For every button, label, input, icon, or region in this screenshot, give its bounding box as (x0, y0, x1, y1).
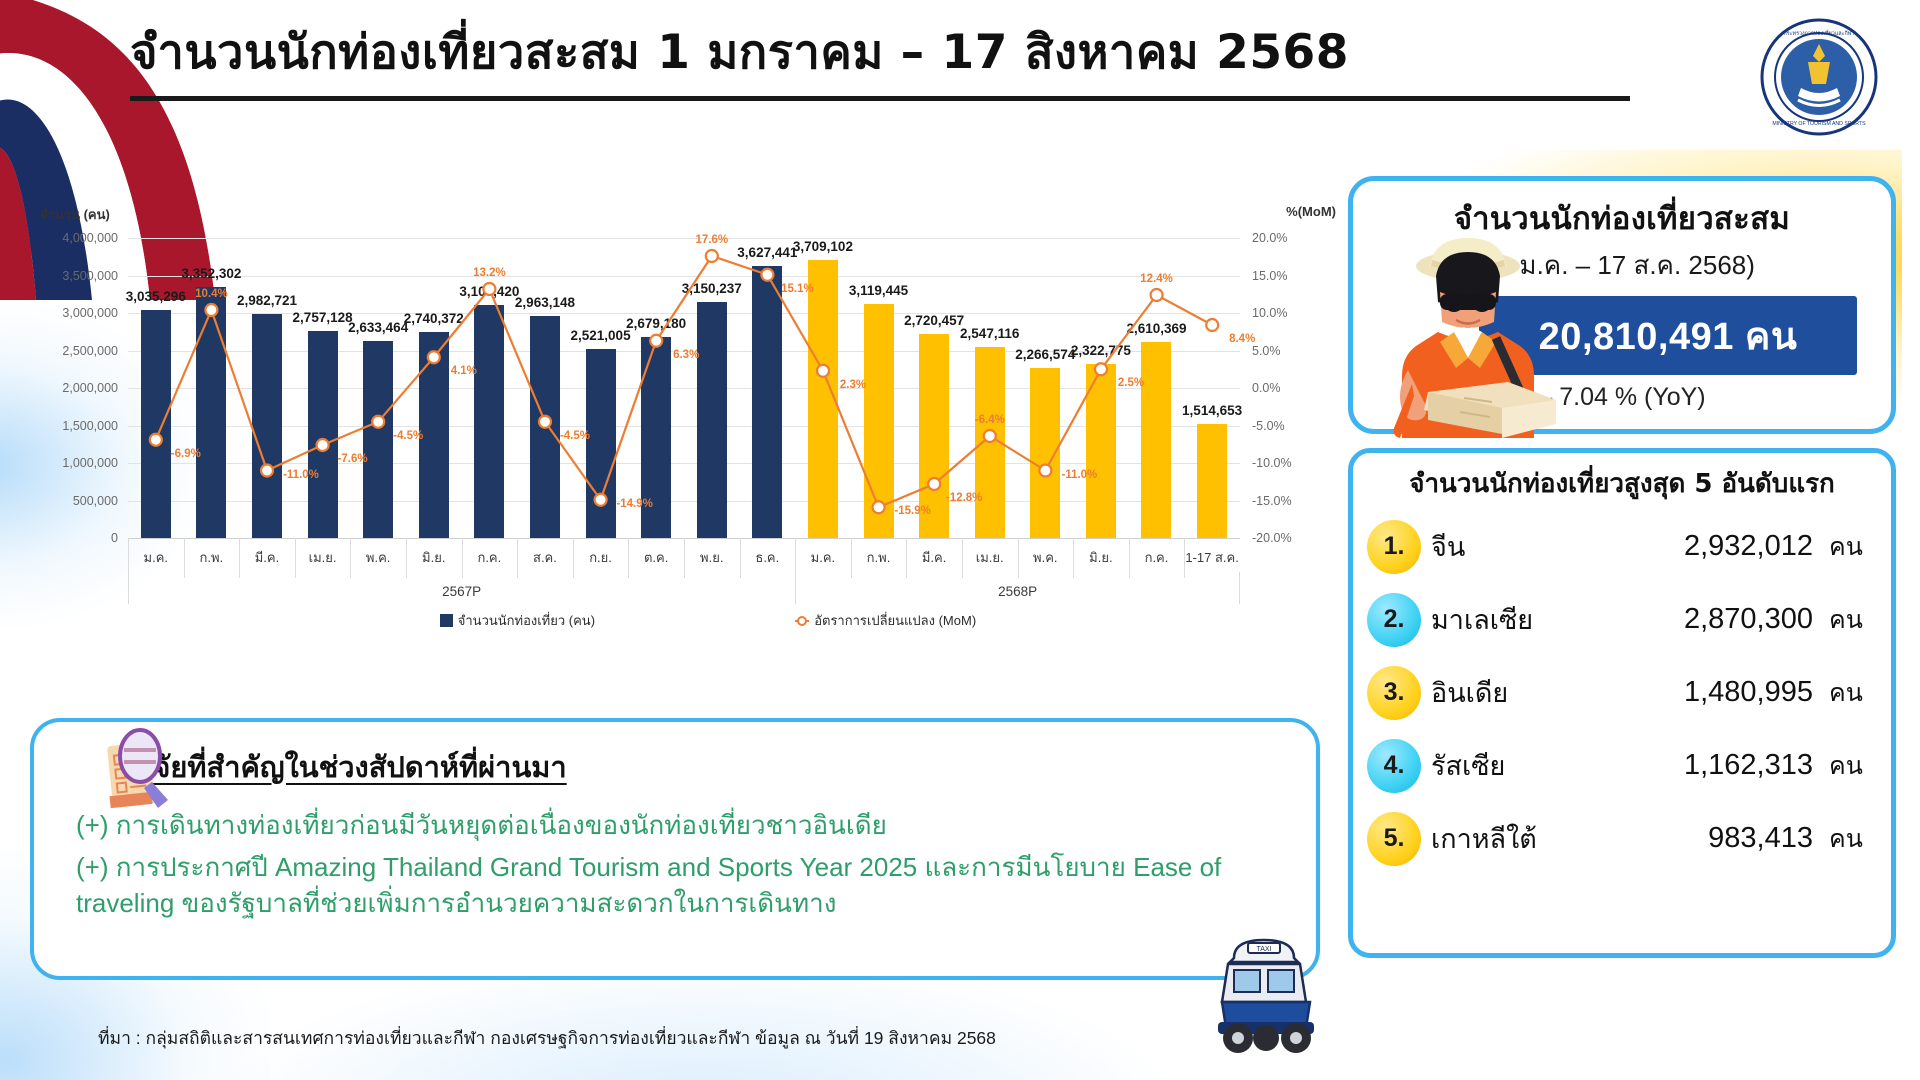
x-axis-label: 1-17 ส.ค. (1184, 538, 1240, 576)
page-title: จำนวนนักท่องเที่ยวสะสม 1 มกราคม – 17 สิง… (130, 26, 1690, 80)
bar-slot: 2,633,464 (350, 238, 406, 538)
x-axis-label: มิ.ย. (1073, 538, 1129, 576)
legend-item: จำนวนนักท่องเที่ยว (คน) (440, 610, 595, 631)
mom-percent-label: -4.5% (393, 430, 423, 442)
chart-bar (474, 305, 504, 538)
bar-slot: 2,679,180 (628, 238, 684, 538)
bar-slot: 3,150,237 (684, 238, 740, 538)
y-tick-label-right: -20.0% (1252, 531, 1292, 545)
bar-value-label: 1,514,653 (1182, 403, 1242, 418)
bar-slot: 3,103,420 (462, 238, 518, 538)
bar-slot: 3,352,302 (184, 238, 240, 538)
legend-label: จำนวนนักท่องเที่ยว (คน) (458, 610, 595, 631)
mom-percent-label: 15.1% (781, 283, 814, 295)
magnifier-checklist-icon (96, 724, 188, 816)
mom-percent-label: 2.3% (840, 379, 866, 391)
mom-percent-label: -4.5% (560, 430, 590, 442)
mom-percent-label: -15.9% (894, 505, 930, 517)
bar-value-label: 2,633,464 (348, 320, 408, 335)
tuktuk-illustration: TAXI (1200, 918, 1330, 1058)
svg-text:TAXI: TAXI (1256, 946, 1271, 953)
y-tick-label-left: 2,000,000 (62, 381, 118, 395)
mom-percent-label: -11.0% (1061, 469, 1097, 481)
chart-bar (1197, 424, 1227, 538)
rank-country-name: รัสเซีย (1431, 744, 1581, 787)
bar-value-label: 2,740,372 (404, 311, 464, 326)
mom-percent-label: -7.6% (338, 453, 368, 465)
y-tick-label-left: 2,500,000 (62, 344, 118, 358)
bar-slot: 2,521,005 (573, 238, 629, 538)
x-axis-label: ก.ค. (1129, 538, 1185, 576)
y-tick-label-left: 1,500,000 (62, 419, 118, 433)
key-factors-box: ปัจจัยที่สำคัญในช่วงสัปดาห์ที่ผ่านมา (+)… (30, 718, 1320, 980)
legend-label: อัตราการเปลี่ยนแปลง (MoM) (814, 610, 976, 631)
x-axis-group-label: 2568P (795, 576, 1240, 606)
svg-text:กระทรวงการท่องเที่ยวและกีฬา: กระทรวงการท่องเที่ยวและกีฬา (1783, 29, 1854, 37)
x-axis-label: พ.ย. (684, 538, 740, 576)
bar-value-label: 3,150,237 (682, 281, 742, 296)
factors-header: ปัจจัยที่สำคัญในช่วงสัปดาห์ที่ผ่านมา (34, 722, 1316, 790)
y-tick-label-right: -5.0% (1252, 419, 1285, 433)
y-tick-label-left: 500,000 (73, 494, 118, 508)
rank-value: 2,870,300 (1581, 603, 1829, 636)
chart-bar (697, 302, 727, 538)
top5-row: 3.อินเดีย1,480,995คน (1367, 656, 1877, 729)
chart-bar (363, 341, 393, 539)
mom-percent-label: 12.4% (1140, 273, 1173, 285)
chart-bars: 3,035,2963,352,3022,982,7212,757,1282,63… (128, 238, 1240, 538)
x-axis-label: ต.ค. (628, 538, 684, 576)
chart-bar (530, 316, 560, 538)
bar-value-label: 2,757,128 (293, 310, 353, 325)
rank-unit: คน (1829, 819, 1877, 859)
page-header: จำนวนนักท่องเที่ยวสะสม 1 มกราคม – 17 สิง… (130, 26, 1690, 101)
x-axis-label: ม.ค. (795, 538, 851, 576)
bar-value-label: 3,709,102 (793, 239, 853, 254)
mom-percent-label: 8.4% (1229, 333, 1255, 345)
chart-bar (252, 314, 282, 538)
x-axis-label: มี.ค. (906, 538, 962, 576)
rank-unit: คน (1829, 600, 1877, 640)
chart-bar (308, 331, 338, 538)
rank-value: 1,480,995 (1581, 676, 1829, 709)
x-axis-label: ก.พ. (851, 538, 907, 576)
source-footnote: ที่มา : กลุ่มสถิติและสารสนเทศการท่องเที่… (98, 1024, 996, 1052)
y-tick-label-left: 1,000,000 (62, 456, 118, 470)
mom-percent-label: -6.4% (975, 414, 1005, 426)
bar-value-label: 2,322,775 (1071, 343, 1131, 358)
y-tick-label-right: 15.0% (1252, 269, 1287, 283)
tourist-arrivals-chart: จำนวน (คน) %(MoM) 0500,0001,000,0001,500… (28, 212, 1358, 612)
mom-percent-label: -11.0% (283, 469, 319, 481)
bar-slot: 2,740,372 (406, 238, 462, 538)
mom-percent-label: 10.4% (195, 288, 228, 300)
mom-percent-label: -12.8% (946, 492, 982, 504)
mom-percent-label: 2.5% (1118, 377, 1144, 389)
x-axis-group-labels: 2567P2568P (128, 576, 1240, 606)
x-axis-group-label: 2567P (128, 576, 795, 606)
x-axis-label: ม.ค. (128, 538, 184, 576)
bar-value-label: 3,035,296 (126, 289, 186, 304)
rank-country-name: มาเลเซีย (1431, 598, 1581, 641)
y-tick-label-left: 3,500,000 (62, 269, 118, 283)
bar-value-label: 2,720,457 (904, 313, 964, 328)
rank-country-name: เกาหลีใต้ (1431, 817, 1581, 860)
x-axis-label: พ.ค. (1018, 538, 1074, 576)
chart-legend: จำนวนนักท่องเที่ยว (คน)อัตราการเปลี่ยนแป… (128, 610, 1240, 631)
chart-bar (1141, 342, 1171, 538)
factor-item-2: (+) การประกาศปี Amazing Thailand Grand T… (34, 850, 1316, 922)
legend-circle-marker-icon (795, 614, 809, 628)
rank-value: 2,932,012 (1581, 530, 1829, 563)
x-axis-label: มี.ค. (239, 538, 295, 576)
chart-plot-area: 0500,0001,000,0001,500,0002,000,0002,500… (128, 238, 1240, 538)
top5-row: 2.มาเลเซีย2,870,300คน (1367, 583, 1877, 656)
bar-slot: 2,982,721 (239, 238, 295, 538)
x-axis-label: ก.พ. (184, 538, 240, 576)
bar-value-label: 2,982,721 (237, 293, 297, 308)
bar-value-label: 3,103,420 (459, 284, 519, 299)
top5-row: 5.เกาหลีใต้983,413คน (1367, 802, 1877, 875)
bar-value-label: 2,610,369 (1126, 321, 1186, 336)
chart-bar (196, 287, 226, 538)
mom-percent-label: 13.2% (473, 267, 506, 279)
top5-row: 4.รัสเซีย1,162,313คน (1367, 729, 1877, 802)
x-axis-label: เม.ย. (962, 538, 1018, 576)
mom-percent-label: 6.3% (673, 349, 699, 361)
x-axis-label: เม.ย. (295, 538, 351, 576)
rank-badge: 5. (1367, 812, 1421, 866)
bar-slot: 3,035,296 (128, 238, 184, 538)
chart-bar (419, 332, 449, 538)
bar-value-label: 2,266,574 (1015, 347, 1075, 362)
x-axis-category-labels: ม.ค.ก.พ.มี.ค.เม.ย.พ.ค.มิ.ย.ก.ค.ส.ค.ก.ย.ต… (128, 538, 1240, 576)
top5-rows: 1.จีน2,932,012คน2.มาเลเซีย2,870,300คน3.อ… (1367, 510, 1877, 875)
top5-row: 1.จีน2,932,012คน (1367, 510, 1877, 583)
legend-square-icon (440, 614, 453, 627)
bar-slot: 1,514,653 (1184, 238, 1240, 538)
y-tick-label-left: 3,000,000 (62, 306, 118, 320)
y-tick-label-right: 0.0% (1252, 381, 1281, 395)
x-axis-label: ส.ค. (517, 538, 573, 576)
chart-x-axis: ม.ค.ก.พ.มี.ค.เม.ย.พ.ค.มิ.ย.ก.ค.ส.ค.ก.ย.ต… (128, 538, 1240, 616)
chart-bar (808, 260, 838, 538)
rank-badge: 2. (1367, 593, 1421, 647)
bar-slot: 2,757,128 (295, 238, 351, 538)
x-axis-label: ก.ค. (462, 538, 518, 576)
x-axis-label: พ.ค. (350, 538, 406, 576)
y-tick-label-right: 20.0% (1252, 231, 1287, 245)
x-axis-label: ธ.ค. (740, 538, 796, 576)
rank-country-name: อินเดีย (1431, 671, 1581, 714)
chart-bar (1086, 364, 1116, 538)
rank-value: 983,413 (1581, 822, 1829, 855)
top5-title: จำนวนนักท่องเที่ยวสูงสุด 5 อันดับแรก (1367, 463, 1877, 504)
title-divider (130, 96, 1630, 101)
mom-percent-label: 4.1% (451, 365, 477, 377)
rank-badge: 4. (1367, 739, 1421, 793)
bar-value-label: 2,547,116 (960, 326, 1019, 341)
y-tick-label-left: 4,000,000 (62, 231, 118, 245)
chart-bar (1030, 368, 1060, 538)
rank-unit: คน (1829, 527, 1877, 567)
mom-percent-label: -6.9% (171, 448, 201, 460)
bar-value-label: 2,679,180 (626, 316, 686, 331)
bar-value-label: 3,352,302 (181, 266, 241, 281)
bar-value-label: 2,963,148 (515, 295, 575, 310)
bar-value-label: 3,627,441 (737, 245, 797, 260)
factor-item-1: (+) การเดินทางท่องเที่ยวก่อนมีวันหยุดต่อ… (34, 808, 1316, 844)
chart-bar (864, 304, 894, 538)
top5-countries-card: จำนวนนักท่องเที่ยวสูงสุด 5 อันดับแรก 1.จ… (1348, 448, 1896, 958)
rank-unit: คน (1829, 673, 1877, 713)
y-tick-label-right: 5.0% (1252, 344, 1281, 358)
y-tick-label-right: -10.0% (1252, 456, 1292, 470)
chart-bar (586, 349, 616, 538)
ministry-logo-icon: กระทรวงการท่องเที่ยวและกีฬา MINISTRY OF … (1760, 18, 1878, 136)
y-tick-label-right: -15.0% (1252, 494, 1292, 508)
chart-bar (752, 266, 782, 538)
bar-slot: 2,266,574 (1018, 238, 1074, 538)
svg-text:MINISTRY OF TOURISM AND SPORTS: MINISTRY OF TOURISM AND SPORTS (1772, 121, 1866, 127)
bar-value-label: 2,521,005 (571, 328, 631, 343)
y-tick-label-right: 10.0% (1252, 306, 1287, 320)
mom-percent-label: -14.9% (616, 498, 652, 510)
chart-bar (975, 347, 1005, 538)
x-axis-label: ก.ย. (573, 538, 629, 576)
bar-value-label: 3,119,445 (849, 283, 908, 298)
rank-value: 1,162,313 (1581, 749, 1829, 782)
tourist-with-map-illustration (1368, 220, 1568, 438)
chart-bar (141, 310, 171, 538)
mom-percent-label: 17.6% (695, 234, 728, 246)
rank-badge: 3. (1367, 666, 1421, 720)
rank-country-name: จีน (1431, 525, 1581, 568)
rank-badge: 1. (1367, 520, 1421, 574)
y-tick-label-left: 0 (111, 531, 118, 545)
y-axis-title-left: จำนวน (คน) (40, 204, 110, 225)
summary-value: 20,810,491 คน (1539, 316, 1798, 358)
x-axis-label: มิ.ย. (406, 538, 462, 576)
rank-unit: คน (1829, 746, 1877, 786)
bar-slot: 2,963,148 (517, 238, 573, 538)
y-axis-title-right: %(MoM) (1286, 204, 1336, 219)
legend-item: อัตราการเปลี่ยนแปลง (MoM) (795, 610, 976, 631)
